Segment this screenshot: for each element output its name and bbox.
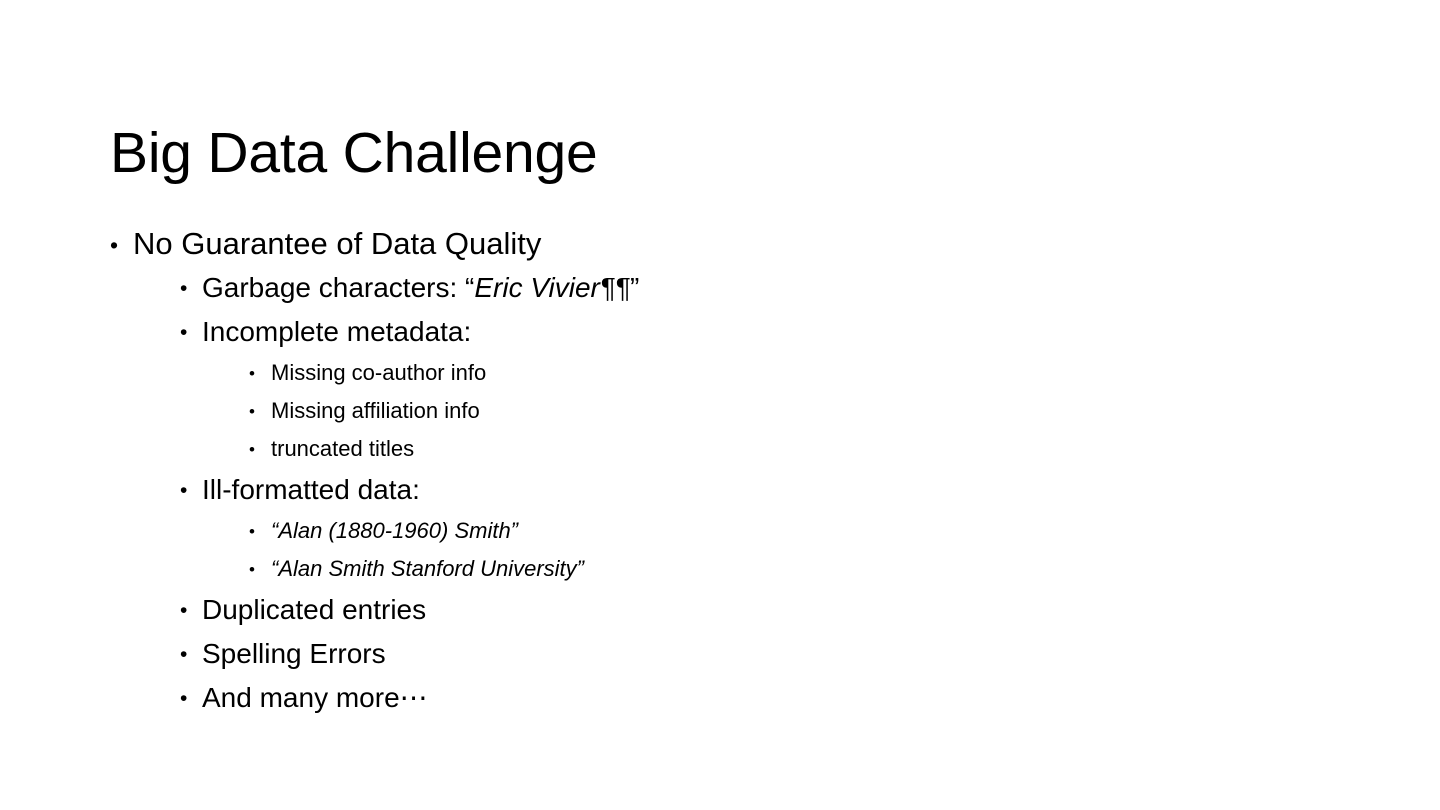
bullet-marker-icon: • <box>180 267 187 311</box>
bullet-text: “Alan (1880-1960) Smith” <box>271 512 1350 550</box>
bullet-text: Ill-formatted data: <box>202 468 1350 512</box>
bullet-marker-icon: • <box>249 513 255 551</box>
bullet-item-level-3: • “Alan Smith Stanford University” <box>249 550 1350 588</box>
page-title: Big Data Challenge <box>110 124 1330 184</box>
bullet-list-level-1: • No Guarantee of Data Quality • Garbage… <box>110 222 1350 720</box>
bullet-item-level-1: • No Guarantee of Data Quality • Garbage… <box>110 222 1350 720</box>
bullet-text: Garbage characters: “Eric Vivier¶¶” <box>202 266 1350 310</box>
bullet-text: No Guarantee of Data Quality <box>133 222 1350 266</box>
bullet-text: And many more⋯ <box>202 676 1350 720</box>
bullet-list-level-2: • Garbage characters: “Eric Vivier¶¶” • … <box>133 266 1350 720</box>
bullet-list-level-3: • Missing co-author info • Missing affil… <box>202 354 1350 468</box>
bullet-marker-icon: • <box>180 589 187 633</box>
bullet-item-level-2: • Garbage characters: “Eric Vivier¶¶” <box>180 266 1350 310</box>
bullet-text: Missing affiliation info <box>271 392 1350 430</box>
bullet-marker-icon: • <box>180 311 187 355</box>
bullet-item-level-2: • Ill-formatted data: • “Alan (1880-1960… <box>180 468 1350 588</box>
bullet-item-level-2: • Incomplete metadata: • Missing co-auth… <box>180 310 1350 468</box>
bullet-item-level-2: • Spelling Errors <box>180 632 1350 676</box>
bullet-list-level-3: • “Alan (1880-1960) Smith” • “Alan Smith… <box>202 512 1350 588</box>
bullet-text: “Alan Smith Stanford University” <box>271 550 1350 588</box>
bullet-text: Spelling Errors <box>202 632 1350 676</box>
bullet-text: Missing co-author info <box>271 354 1350 392</box>
bullet-text: Incomplete metadata: <box>202 310 1350 354</box>
bullet-marker-icon: • <box>249 551 255 589</box>
bullet-item-level-3: • “Alan (1880-1960) Smith” <box>249 512 1350 550</box>
bullet-text: truncated titles <box>271 430 1350 468</box>
bullet-item-level-3: • Missing co-author info <box>249 354 1350 392</box>
bullet-item-level-3: • Missing affiliation info <box>249 392 1350 430</box>
bullet-item-level-2: • Duplicated entries <box>180 588 1350 632</box>
bullet-text-suffix: ” <box>630 272 639 303</box>
pilcrow-characters: ¶¶ <box>600 272 630 303</box>
bullet-marker-icon: • <box>249 355 255 393</box>
slide-body: • No Guarantee of Data Quality • Garbage… <box>110 222 1350 723</box>
bullet-marker-icon: • <box>180 633 187 677</box>
slide-canvas: Big Data Challenge • No Guarantee of Dat… <box>0 0 1440 810</box>
bullet-marker-icon: • <box>180 677 187 721</box>
bullet-marker-icon: • <box>249 393 255 431</box>
bullet-marker-icon: • <box>249 431 255 469</box>
bullet-item-level-3: • truncated titles <box>249 430 1350 468</box>
bullet-text-prefix: Garbage characters: “ <box>202 272 474 303</box>
bullet-marker-icon: • <box>180 469 187 513</box>
bullet-marker-icon: • <box>110 223 118 267</box>
bullet-text: Duplicated entries <box>202 588 1350 632</box>
bullet-text-emphasis: Eric Vivier <box>474 272 600 303</box>
bullet-item-level-2: • And many more⋯ <box>180 676 1350 720</box>
